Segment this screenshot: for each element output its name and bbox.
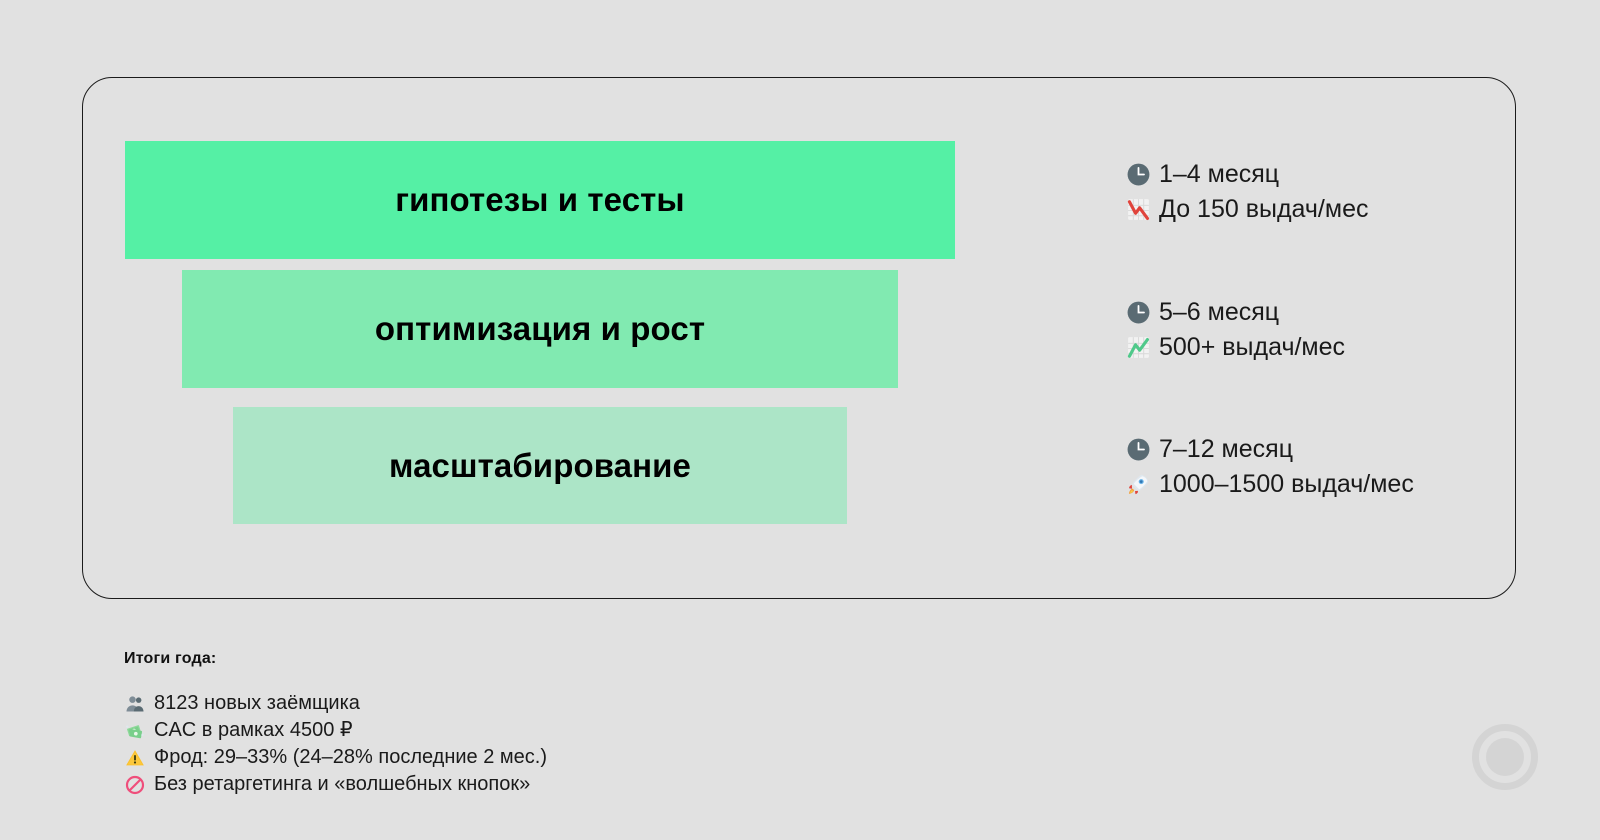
funnel-bar-stage-1: гипотезы и тесты [125, 141, 955, 259]
funnel-bar-stage-3: масштабирование [233, 407, 847, 524]
annotation-volume-text: 1000–1500 выдач/мес [1159, 468, 1414, 501]
annotation-timeframe-text: 1–4 месяц [1159, 158, 1279, 191]
list-item: CAC в рамках 4500 ₽ [124, 717, 884, 744]
year-summary: Итоги года: 8123 новых заёмщика [124, 650, 884, 798]
annotation-volume: 1000–1500 выдач/мес [1125, 468, 1525, 501]
funnel-bar-label: оптимизация и рост [375, 310, 705, 348]
person-silhouette-icon [124, 693, 146, 715]
list-item-text: Без ретаргетинга и «волшебных кнопок» [154, 771, 530, 798]
stage-annotations: 1–4 месяц До 150 выдач/мес [1125, 0, 1525, 840]
annotation-timeframe-text: 5–6 месяц [1159, 296, 1279, 329]
list-item: Фрод: 29–33% (24–28% последние 2 мес.) [124, 744, 884, 771]
annotation-volume: 500+ выдач/мес [1125, 331, 1525, 364]
prohibited-icon [124, 774, 146, 796]
list-item: 8123 новых заёмщика [124, 690, 884, 717]
money-with-wings-icon [124, 720, 146, 742]
annotation-group-stage-3: 7–12 месяц 1000–1500 выдач/мес [1125, 433, 1525, 501]
clock-icon [1125, 436, 1152, 463]
chart-decreasing-icon [1125, 196, 1152, 223]
list-item-text: Фрод: 29–33% (24–28% последние 2 мес.) [154, 744, 547, 771]
watermark-inner-circle [1486, 738, 1524, 776]
annotation-group-stage-2: 5–6 месяц 500+ выдач/мес [1125, 296, 1525, 364]
warning-triangle-icon [124, 747, 146, 769]
clock-icon [1125, 161, 1152, 188]
clock-icon [1125, 299, 1152, 326]
funnel-bar-label: масштабирование [389, 447, 691, 485]
annotation-timeframe-text: 7–12 месяц [1159, 433, 1293, 466]
funnel-bar-stage-2: оптимизация и рост [182, 270, 898, 388]
rocket-icon [1125, 471, 1152, 498]
annotation-timeframe: 5–6 месяц [1125, 296, 1525, 329]
annotation-volume-text: До 150 выдач/мес [1159, 193, 1368, 226]
concentric-circles-icon [1472, 724, 1538, 790]
annotation-volume: До 150 выдач/мес [1125, 193, 1525, 226]
annotation-timeframe: 1–4 месяц [1125, 158, 1525, 191]
list-item: Без ретаргетинга и «волшебных кнопок» [124, 771, 884, 798]
list-item-text: CAC в рамках 4500 ₽ [154, 717, 353, 744]
list-item-text: 8123 новых заёмщика [154, 690, 360, 717]
funnel-bar-label: гипотезы и тесты [395, 181, 684, 219]
year-summary-list: 8123 новых заёмщика [124, 690, 884, 798]
annotation-timeframe: 7–12 месяц [1125, 433, 1525, 466]
chart-increasing-icon [1125, 334, 1152, 361]
annotation-volume-text: 500+ выдач/мес [1159, 331, 1345, 364]
annotation-group-stage-1: 1–4 месяц До 150 выдач/мес [1125, 158, 1525, 226]
year-summary-title: Итоги года: [124, 650, 884, 668]
